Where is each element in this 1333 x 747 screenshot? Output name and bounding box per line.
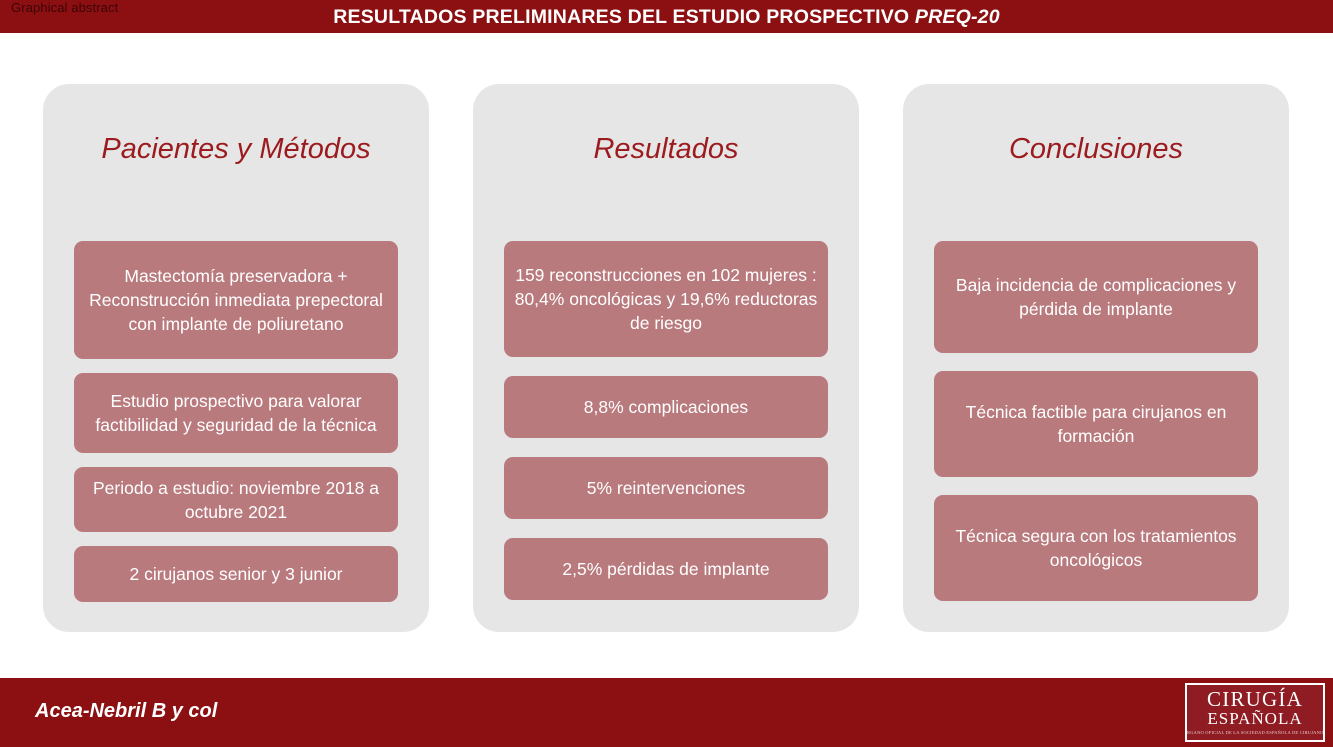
column-items: Baja incidencia de complicaciones y pérd… [934, 241, 1258, 607]
page-title: RESULTADOS PRELIMINARES DEL ESTUDIO PROS… [0, 6, 1333, 29]
cirugia-espanola-logo: CIRUGÍA ESPAÑOLA ÓRGANO OFICIAL DE LA SO… [1185, 683, 1325, 742]
item-box: 5% reintervenciones [504, 457, 828, 519]
column-title: Pacientes y Métodos [43, 133, 429, 166]
logo-line-espanola: ESPAÑOLA [1207, 710, 1302, 728]
item-box: 159 reconstrucciones en 102 mujeres : 80… [504, 241, 828, 357]
item-box: Mastectomía preservadora + Reconstrucció… [74, 241, 398, 359]
column-title: Conclusiones [903, 133, 1289, 166]
item-box: 2 cirujanos senior y 3 junior [74, 546, 398, 602]
item-box: 8,8% complicaciones [504, 376, 828, 438]
logo-line-cirugia: CIRUGÍA [1207, 689, 1303, 710]
column-conclusiones: Conclusiones Baja incidencia de complica… [903, 84, 1289, 632]
graphical-abstract-board: Pacientes y Métodos Mastectomía preserva… [0, 33, 1333, 670]
item-box: Baja incidencia de complicaciones y pérd… [934, 241, 1258, 353]
item-box: Estudio prospectivo para valorar factibi… [74, 373, 398, 453]
column-items: 159 reconstrucciones en 102 mujeres : 80… [504, 241, 828, 607]
author-credit: Acea-Nebril B y col [35, 700, 217, 723]
footer-banner: Acea-Nebril B y col CIRUGÍA ESPAÑOLA ÓRG… [0, 678, 1333, 747]
column-pacientes-y-metodos: Pacientes y Métodos Mastectomía preserva… [43, 84, 429, 632]
item-box: Técnica factible para cirujanos en forma… [934, 371, 1258, 477]
page-title-emphasis: PREQ-20 [915, 6, 1000, 28]
item-box: 2,5% pérdidas de implante [504, 538, 828, 600]
column-items: Mastectomía preservadora + Reconstrucció… [74, 241, 398, 607]
column-resultados: Resultados 159 reconstrucciones en 102 m… [473, 84, 859, 632]
top-banner: Graphical abstract RESULTADOS PRELIMINAR… [0, 0, 1333, 33]
item-box: Técnica segura con los tratamientos onco… [934, 495, 1258, 601]
item-box: Periodo a estudio: noviembre 2018 a octu… [74, 467, 398, 532]
page-title-main: RESULTADOS PRELIMINARES DEL ESTUDIO PROS… [333, 6, 915, 28]
logo-subtitle: ÓRGANO OFICIAL DE LA SOCIEDAD ESPAÑOLA D… [1185, 729, 1325, 736]
column-title: Resultados [473, 133, 859, 166]
